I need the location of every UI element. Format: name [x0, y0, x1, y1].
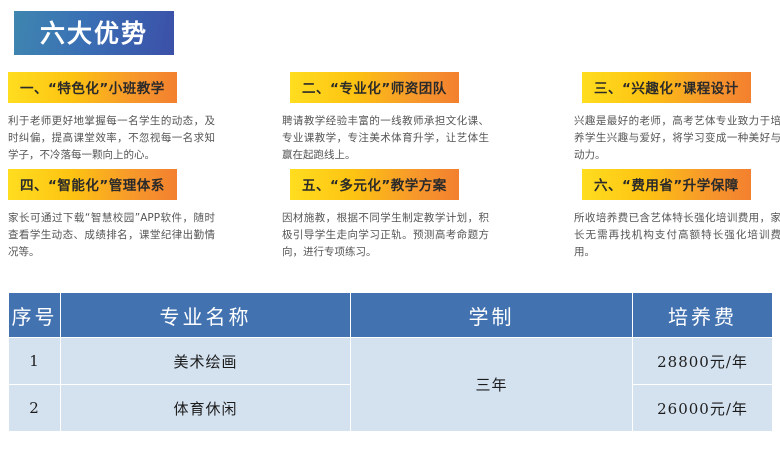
section-banner: 六大优势	[14, 11, 174, 55]
feature-title-1: 一、“特色化”小班教学	[8, 72, 177, 103]
banner-title: 六大优势	[40, 21, 148, 46]
cell-length-merged: 三年	[351, 338, 633, 432]
features-grid: 一、“特色化”小班教学 利于老师更好地掌握每一名学生的动态，及时纠偏，提高课堂效…	[0, 72, 780, 272]
feature-title-5: 五、“多元化”教学方案	[290, 169, 459, 200]
cell-fee-2: 26000元/年	[633, 385, 773, 432]
feature-title-6: 六、“费用省”升学保障	[582, 169, 751, 200]
cell-name-1: 美术绘画	[61, 338, 351, 385]
majors-table-wrapper: 序号 专业名称 学制 培养费 1 美术绘画 三年 28800元/年 2 体育休闲…	[8, 292, 772, 432]
majors-table: 序号 专业名称 学制 培养费 1 美术绘画 三年 28800元/年 2 体育休闲…	[8, 292, 773, 432]
feature-title-2: 二、“专业化”师资团队	[290, 72, 459, 103]
feature-card-2: 二、“专业化”师资团队 聘请教学经验丰富的一线教师承担文化课、专业课教学，专注美…	[282, 72, 497, 164]
feature-body-3: 兴趣是最好的老师，高考艺体专业致力于培养学生兴趣与爱好，将学习变成一种美好与动力…	[574, 113, 780, 164]
table-head: 序号 专业名称 学制 培养费	[9, 293, 773, 338]
feature-body-4: 家长可通过下载“智慧校园”APP软件，随时查看学生动态、成绩排名，课堂纪律出勤情…	[8, 210, 215, 261]
table-header-length: 学制	[351, 293, 633, 338]
table-row: 1 美术绘画 三年 28800元/年	[9, 338, 773, 385]
feature-body-6: 所收培养费已含艺体特长强化培训费用，家长无需再找机构支付高额特长强化培训费用。	[574, 210, 780, 261]
cell-num-1: 1	[9, 338, 61, 385]
feature-body-1: 利于老师更好地掌握每一名学生的动态，及时纠偏，提高课堂效率，不忽视每一名求知学子…	[8, 113, 215, 164]
table-header-row: 序号 专业名称 学制 培养费	[9, 293, 773, 338]
feature-card-4: 四、“智能化”管理体系 家长可通过下载“智慧校园”APP软件，随时查看学生动态、…	[8, 169, 223, 261]
feature-card-5: 五、“多元化”教学方案 因材施教，根据不同学生制定教学计划，积极引导学生走向学习…	[282, 169, 497, 261]
cell-name-2: 体育休闲	[61, 385, 351, 432]
cell-num-2: 2	[9, 385, 61, 432]
feature-title-4: 四、“智能化”管理体系	[8, 169, 177, 200]
feature-card-6: 六、“费用省”升学保障 所收培养费已含艺体特长强化培训费用，家长无需再找机构支付…	[574, 169, 780, 261]
feature-body-5: 因材施教，根据不同学生制定教学计划，积极引导学生走向学习正轨。预测高考命题方向，…	[282, 210, 489, 261]
table-header-name: 专业名称	[61, 293, 351, 338]
feature-card-1: 一、“特色化”小班教学 利于老师更好地掌握每一名学生的动态，及时纠偏，提高课堂效…	[8, 72, 223, 164]
table-body: 1 美术绘画 三年 28800元/年 2 体育休闲 26000元/年	[9, 338, 773, 432]
feature-card-3: 三、“兴趣化”课程设计 兴趣是最好的老师，高考艺体专业致力于培养学生兴趣与爱好，…	[574, 72, 780, 164]
feature-body-2: 聘请教学经验丰富的一线教师承担文化课、专业课教学，专注美术体育升学，让艺体生赢在…	[282, 113, 489, 164]
table-header-fee: 培养费	[633, 293, 773, 338]
table-header-num: 序号	[9, 293, 61, 338]
feature-title-3: 三、“兴趣化”课程设计	[582, 72, 751, 103]
cell-fee-1: 28800元/年	[633, 338, 773, 385]
